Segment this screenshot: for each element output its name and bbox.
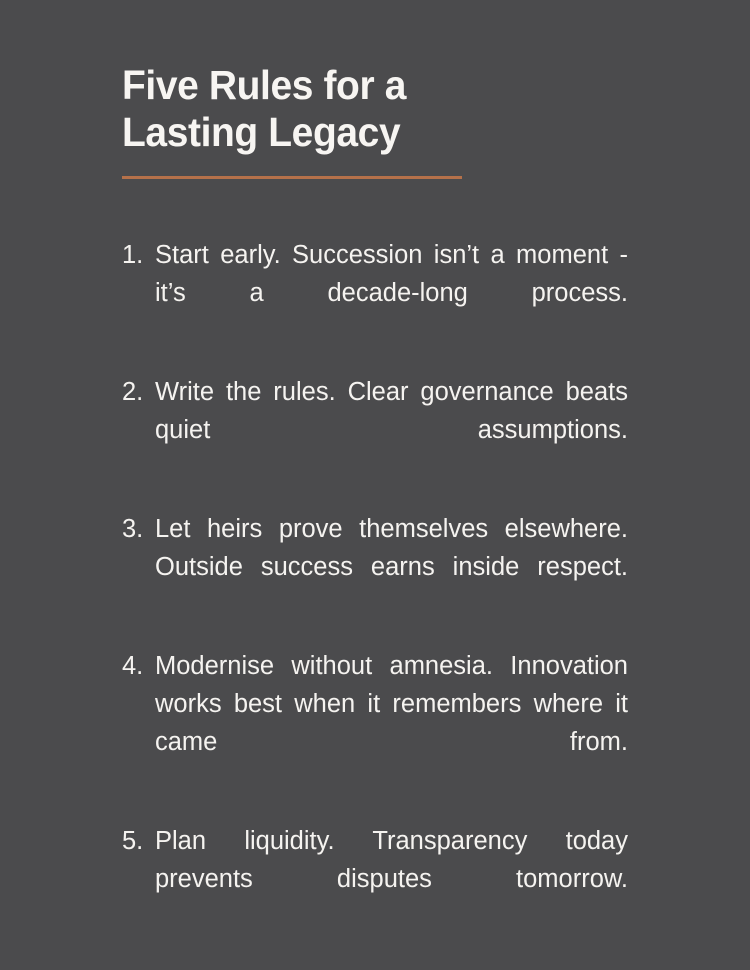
list-item: 5. Plan liquidity. Transparency today pr… — [122, 822, 628, 936]
page-title: Five Rules for a Lasting Legacy — [122, 62, 616, 156]
list-item-text: Let heirs prove themselves elsewhere. Ou… — [155, 510, 628, 624]
slide-canvas: Five Rules for a Lasting Legacy 1. Start… — [0, 0, 750, 970]
rules-list: 1. Start early. Succession isn’t a momen… — [122, 236, 628, 936]
list-item: 3. Let heirs prove themselves elsewhere.… — [122, 510, 628, 624]
title-block: Five Rules for a Lasting Legacy — [122, 62, 642, 156]
list-item: 4. Modernise without amnesia. Innovation… — [122, 647, 628, 799]
list-item-text: Write the rules. Clear governance beats … — [155, 373, 628, 487]
list-item-number: 1. — [122, 236, 150, 274]
list-item-number: 4. — [122, 647, 150, 685]
list-item-number: 3. — [122, 510, 150, 548]
list-item: 1. Start early. Succession isn’t a momen… — [122, 236, 628, 350]
list-item-text: Modernise without amnesia. Innovation wo… — [155, 647, 628, 799]
list-item-text: Plan liquidity. Transparency today preve… — [155, 822, 628, 936]
list-item-text: Start early. Succession isn’t a moment -… — [155, 236, 628, 350]
title-underline-rule — [122, 176, 462, 179]
list-item-number: 2. — [122, 373, 150, 411]
list-item: 2. Write the rules. Clear governance bea… — [122, 373, 628, 487]
list-item-number: 5. — [122, 822, 150, 860]
